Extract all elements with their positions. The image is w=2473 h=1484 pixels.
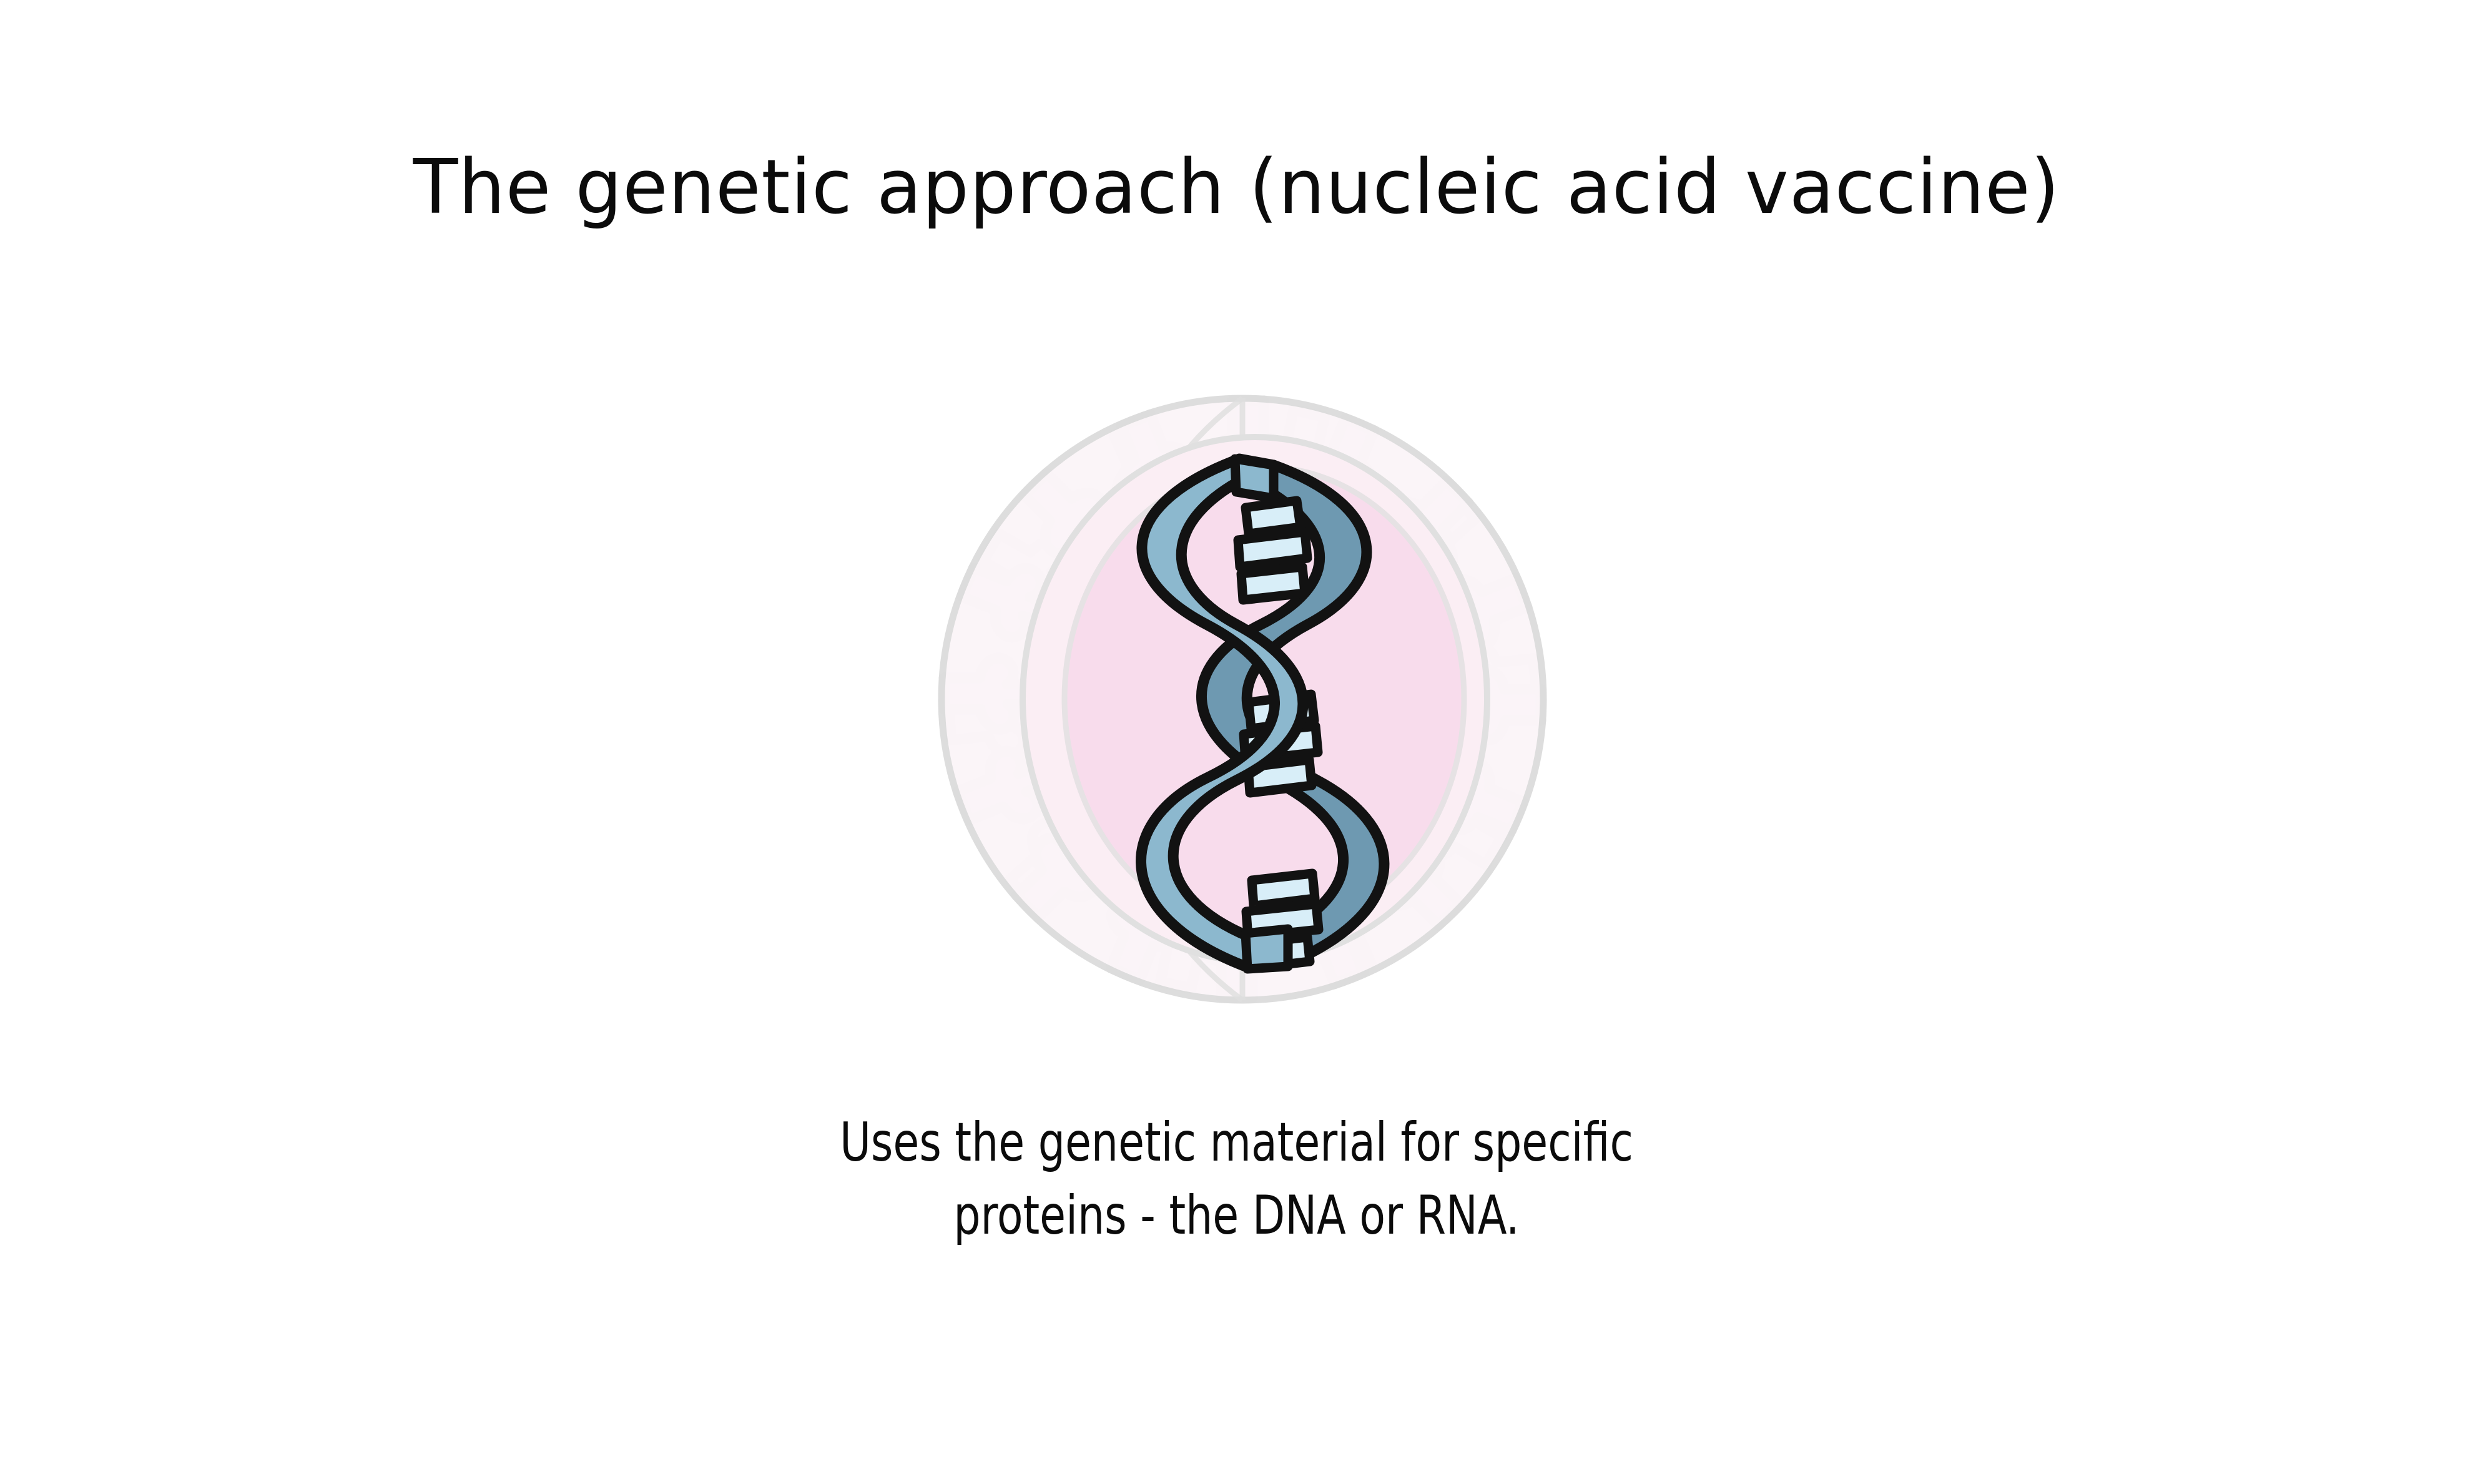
- figure-caption: Uses the genetic material for specific p…: [149, 1106, 2325, 1252]
- caption-line-2: proteins - the DNA or RNA.: [149, 1179, 2325, 1252]
- virus-dna-illustration: [862, 331, 1623, 1068]
- page-title: The genetic approach (nucleic acid vacci…: [25, 145, 2449, 231]
- slide-canvas: The genetic approach (nucleic acid vacci…: [0, 0, 2473, 1484]
- caption-line-1: Uses the genetic material for specific: [149, 1106, 2325, 1179]
